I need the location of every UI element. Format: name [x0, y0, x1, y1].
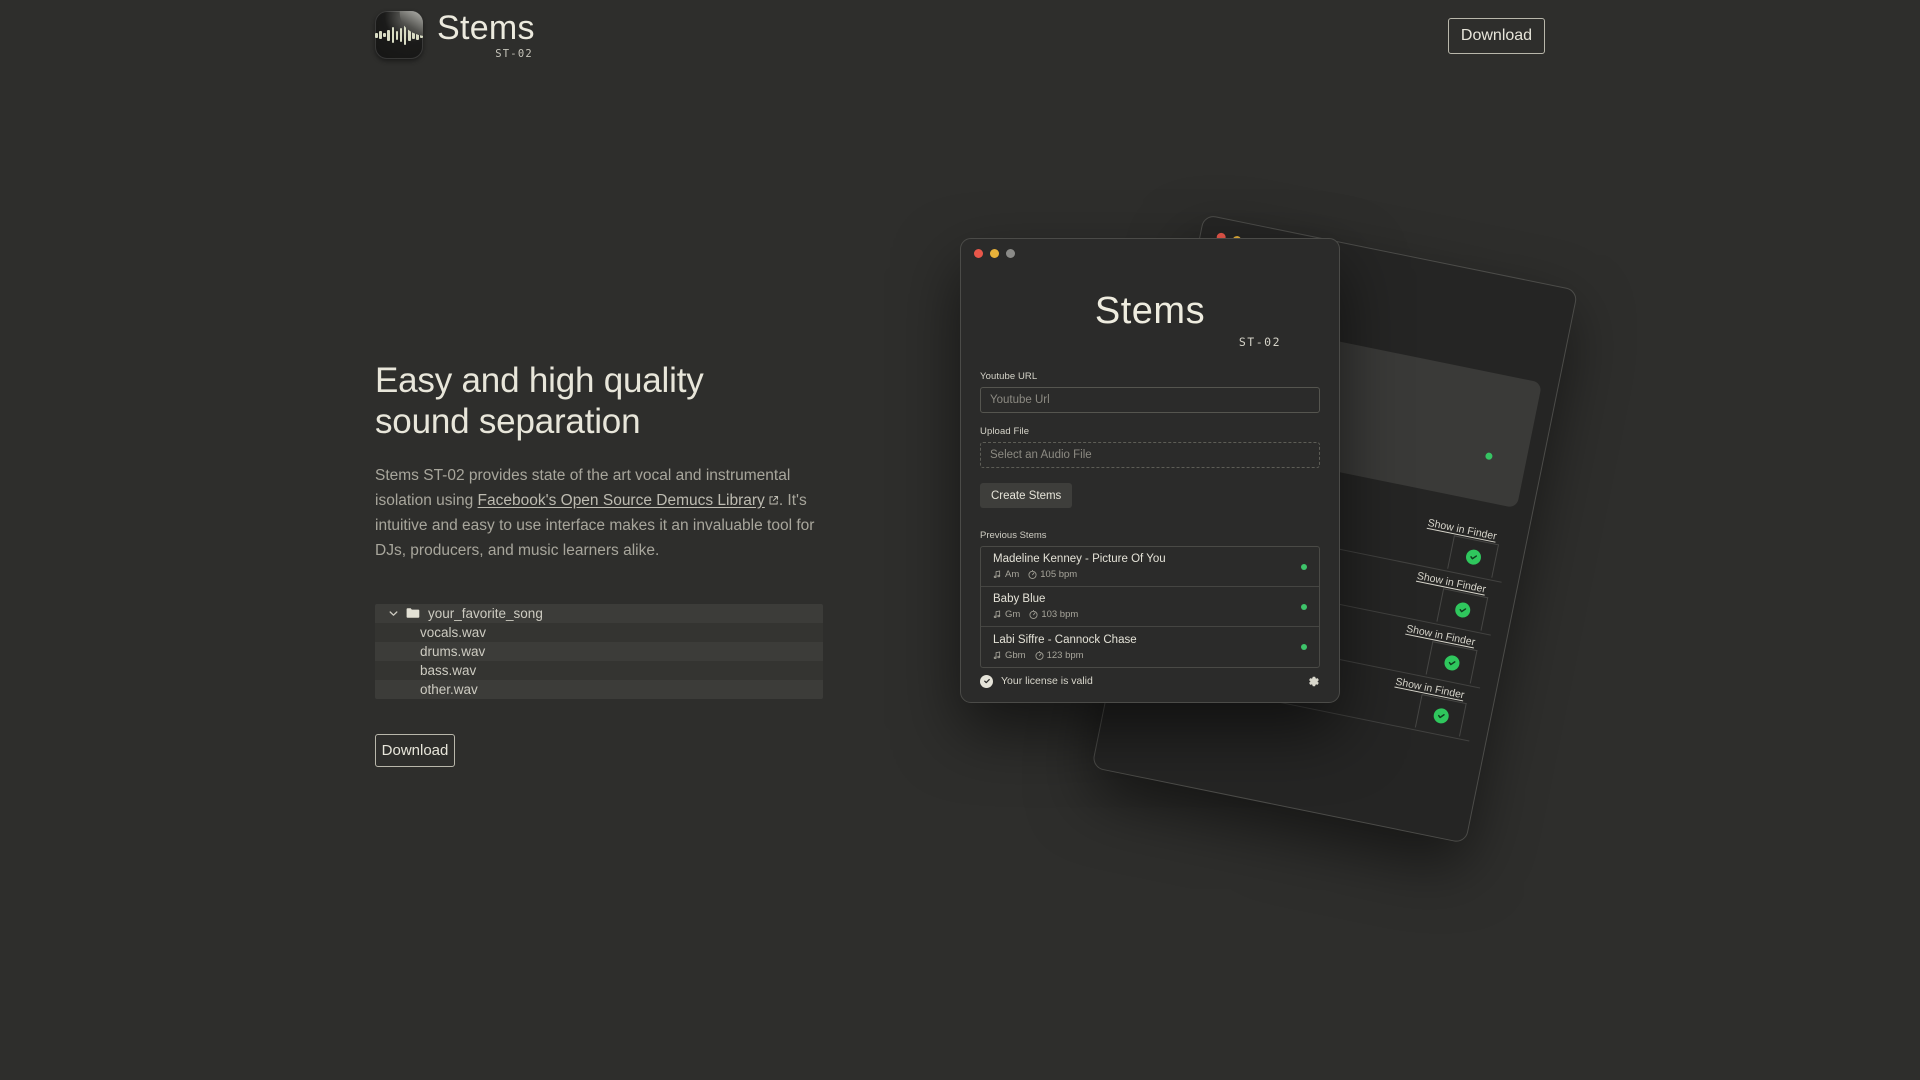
stem-row[interactable]: Baby Blue Gm 103 bpm	[981, 587, 1319, 627]
stem-key: Am	[993, 569, 1019, 580]
page-title: Easy and high quality sound separation	[375, 360, 827, 443]
hero-description: Stems ST-02 provides state of the art vo…	[375, 463, 827, 564]
stems-app-icon	[375, 11, 423, 59]
folder-icon	[406, 607, 420, 619]
previous-stems-label: Previous Stems	[980, 530, 1320, 541]
check-circle-green-icon	[1432, 707, 1450, 725]
brand-version: ST-02	[495, 49, 533, 60]
license-status-bar: Your license is valid	[961, 660, 1339, 702]
app-window-title: Stems	[961, 292, 1339, 330]
stem-bpm: 123 bpm	[1035, 650, 1084, 661]
stem-status-dot	[1301, 564, 1307, 570]
stem-key-label: Am	[1005, 569, 1019, 580]
check-circle-icon	[980, 675, 993, 688]
stem-name: Madeline Kenney - Picture Of You	[993, 553, 1166, 565]
file-tree-item-label: bass.wav	[420, 663, 476, 678]
header-download-button[interactable]: Download	[1448, 18, 1545, 54]
youtube-url-label: Youtube URL	[980, 371, 1320, 382]
stem-info: Baby Blue Gm 103 bpm	[993, 593, 1078, 620]
demucs-library-link[interactable]: Facebook's Open Source Demucs Library	[478, 492, 765, 509]
youtube-url-field: Youtube URL Youtube Url	[980, 371, 1320, 413]
landing-page: Stems ST-02 Download Easy and high quali…	[0, 0, 1920, 1080]
stem-meta: Gm 103 bpm	[993, 609, 1078, 620]
previous-stems-list: Madeline Kenney - Picture Of You Am 105 …	[980, 546, 1320, 668]
gear-icon[interactable]	[1307, 675, 1320, 688]
stem-status-dot	[1301, 644, 1307, 650]
file-tree-item-label: drums.wav	[420, 644, 485, 659]
upload-file-label: Upload File	[980, 426, 1320, 437]
file-tree-folder-label: your_favorite_song	[428, 606, 543, 621]
create-stems-button[interactable]: Create Stems	[980, 483, 1072, 508]
window-titlebar	[961, 239, 1339, 265]
youtube-url-input[interactable]: Youtube Url	[980, 387, 1320, 413]
check-circle-green-icon	[1443, 654, 1461, 672]
file-tree-item-label: other.wav	[420, 682, 478, 697]
stem-key: Gm	[993, 609, 1020, 620]
file-tree: your_favorite_song vocals.wav drums.wav …	[375, 604, 823, 699]
stem-meta: Am 105 bpm	[993, 569, 1166, 580]
minimize-button[interactable]	[990, 249, 999, 258]
stem-status-dot	[1301, 604, 1307, 610]
stem-name: Baby Blue	[993, 593, 1078, 605]
stem-name: Labi Siffre - Cannock Chase	[993, 634, 1137, 646]
file-tree-item-label: vocals.wav	[420, 625, 486, 640]
stem-bpm-label: 103 bpm	[1041, 609, 1078, 620]
brand-text: Stems ST-02	[437, 11, 535, 60]
stem-bpm: 103 bpm	[1029, 609, 1078, 620]
license-status: Your license is valid	[980, 675, 1093, 688]
license-status-text: Your license is valid	[1001, 675, 1093, 687]
file-tree-item[interactable]: drums.wav	[375, 642, 823, 661]
window-traffic-lights	[974, 249, 1339, 258]
app-preview-stage: nnock Show in Finder Show in Finder	[960, 210, 1600, 830]
close-button[interactable]	[974, 249, 983, 258]
stem-key-label: Gm	[1005, 609, 1020, 620]
stem-key: Gbm	[993, 650, 1026, 661]
stem-bpm-label: 105 bpm	[1040, 569, 1077, 580]
status-dot	[1485, 452, 1493, 460]
upload-file-input[interactable]: Select an Audio File	[980, 442, 1320, 468]
stems-app-window: Stems ST-02 Youtube URL Youtube Url Uplo…	[960, 238, 1340, 703]
stem-bpm-label: 123 bpm	[1047, 650, 1084, 661]
app-window-body: Youtube URL Youtube Url Upload File Sele…	[961, 349, 1339, 668]
stem-meta: Gbm 123 bpm	[993, 650, 1137, 661]
external-link-icon	[768, 495, 779, 506]
stem-info: Labi Siffre - Cannock Chase Gbm 123 bpm	[993, 634, 1137, 661]
site-header: Stems ST-02 Download	[0, 0, 1920, 80]
file-tree-folder-row[interactable]: your_favorite_song	[375, 604, 823, 623]
chevron-down-icon[interactable]	[387, 607, 400, 620]
check-circle-green-icon	[1464, 548, 1482, 566]
check-circle-green-icon	[1453, 601, 1471, 619]
stem-info: Madeline Kenney - Picture Of You Am 105 …	[993, 553, 1166, 580]
app-window-hero: Stems ST-02	[961, 265, 1339, 349]
hero-section: Easy and high quality sound separation S…	[375, 360, 827, 767]
zoom-button[interactable]	[1006, 249, 1015, 258]
brand-title: Stems	[437, 11, 535, 45]
brand[interactable]: Stems ST-02	[375, 11, 535, 60]
file-tree-item[interactable]: vocals.wav	[375, 623, 823, 642]
file-tree-item[interactable]: other.wav	[375, 680, 823, 699]
stem-bpm: 105 bpm	[1028, 569, 1077, 580]
upload-file-field: Upload File Select an Audio File	[980, 426, 1320, 468]
app-window-version: ST-02	[961, 335, 1339, 349]
stem-key-label: Gbm	[1005, 650, 1026, 661]
hero-download-button[interactable]: Download	[375, 734, 455, 767]
file-tree-item[interactable]: bass.wav	[375, 661, 823, 680]
stem-row[interactable]: Madeline Kenney - Picture Of You Am 105 …	[981, 547, 1319, 587]
